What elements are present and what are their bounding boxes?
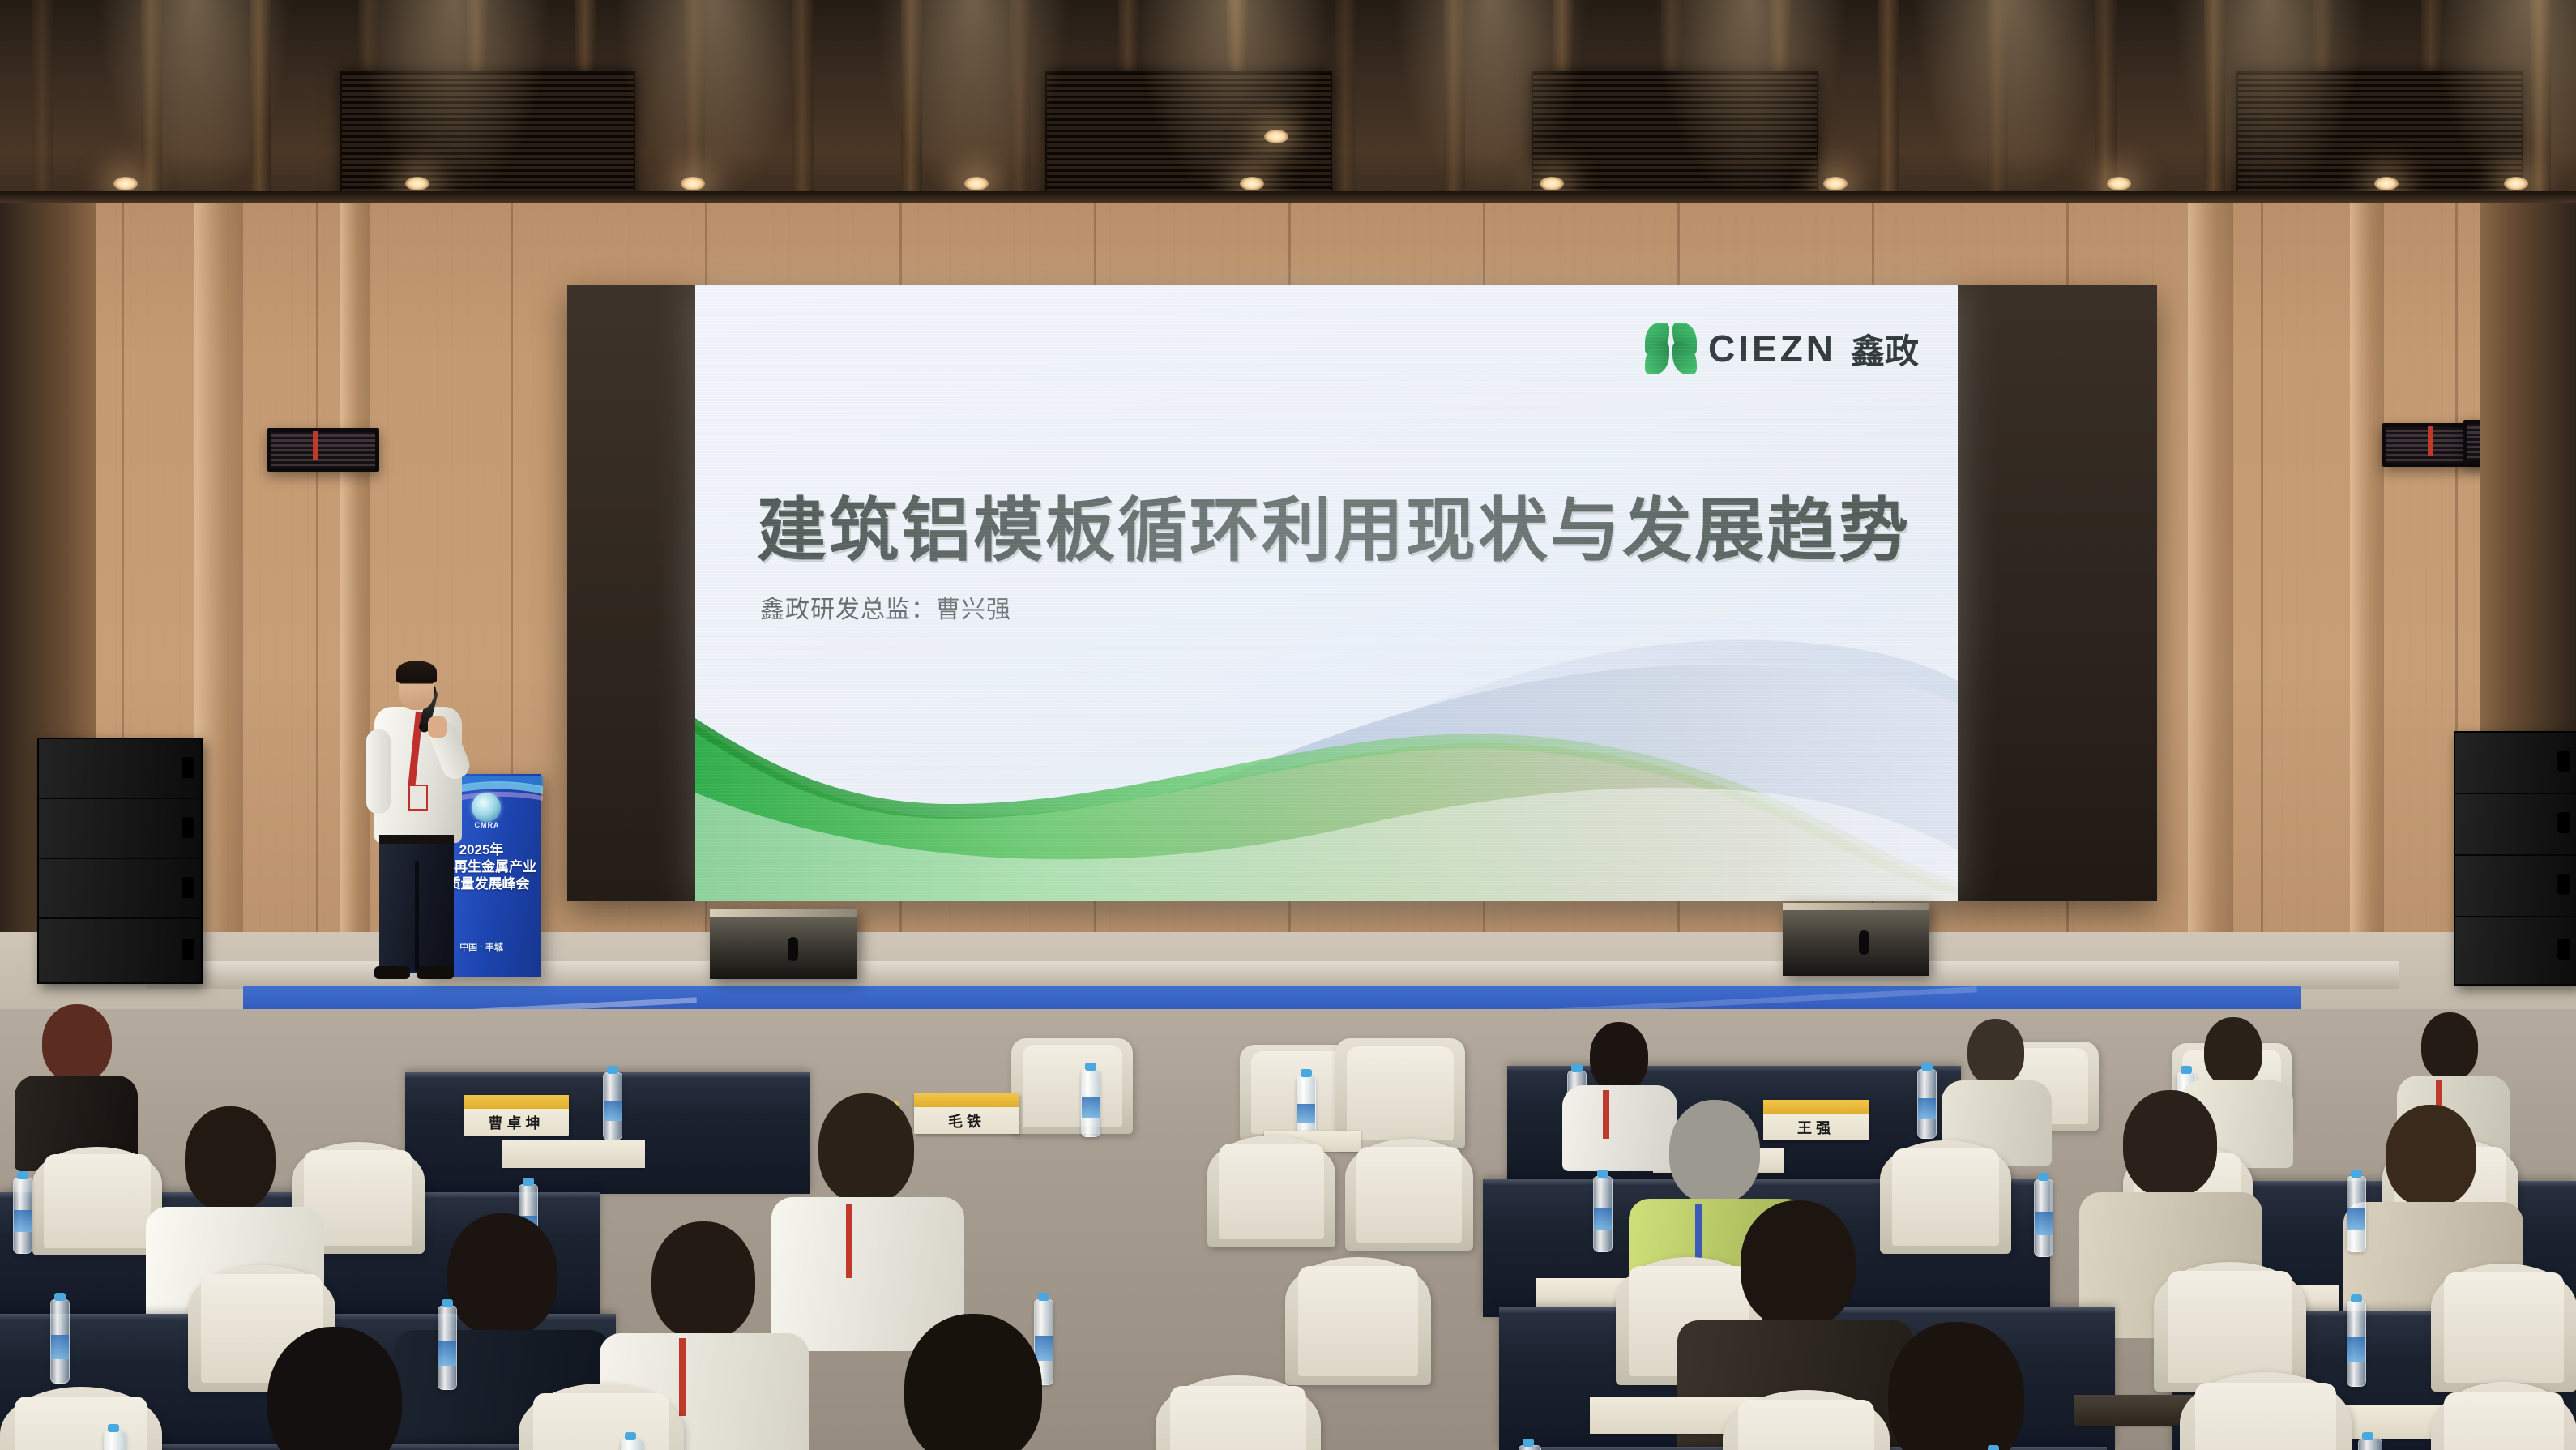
led-display-slide: CIEZN 鑫政 建筑铝模板循环利用现状与发展趋势 鑫政研发总监：曹兴强 [695, 285, 1958, 901]
slide-subtitle: 鑫政研发总监：曹兴强 [760, 589, 1011, 625]
list-item [1285, 1257, 1431, 1385]
speaker-leg-split [415, 861, 419, 971]
water-bottle [50, 1299, 70, 1384]
attendee-head [1967, 1019, 2024, 1085]
attendee-head [2123, 1090, 2217, 1197]
line-array-speaker-left [37, 738, 203, 984]
attendee-head [2421, 1012, 2478, 1080]
stage-monitor-speaker-right [1783, 903, 1929, 976]
ceiling-wash-light [2172, 0, 2366, 203]
name-card-text: 曹卓坤 [464, 1109, 569, 1136]
water-bottle [621, 1439, 643, 1450]
water-bottle [2347, 1176, 2366, 1252]
conference-hall-photo: CIEZN 鑫政 建筑铝模板循环利用现状与发展趋势 鑫政研发总监：曹兴强 ℂ C… [0, 0, 2576, 1450]
logo-chinese-name: 鑫政 [1851, 324, 1919, 374]
speaker-arm-left [366, 729, 391, 814]
ceiling-wash-light [1912, 0, 2107, 203]
vent-indicator [313, 431, 318, 460]
attendee-lanyard [679, 1338, 686, 1416]
water-bottle [1917, 1069, 1937, 1139]
ceiling-downlight [113, 177, 138, 190]
list-item [1880, 1140, 2011, 1254]
screen-bezel-right [1958, 285, 2157, 901]
ceiling-wash-light [2431, 0, 2576, 203]
slide-title: 建筑铝模板循环利用现状与发展趋势 [757, 473, 1911, 575]
attendee-head [2386, 1105, 2476, 1207]
name-card: 曹卓坤 [464, 1095, 569, 1136]
ceiling-beam [1878, 0, 1899, 203]
name-card-text: 王强 [1763, 1114, 1869, 1140]
water-bottle [104, 1431, 126, 1450]
ceiling-wash-light [97, 0, 292, 203]
list-item [0, 1387, 162, 1450]
ceiling-wash-light [1134, 0, 1329, 203]
slide-logo: CIEZN 鑫政 [1645, 323, 1919, 374]
water-bottle [603, 1072, 622, 1140]
list-item [1345, 1139, 1473, 1251]
screen-bezel-left [567, 285, 695, 901]
ceiling-wash-light [1394, 0, 1588, 203]
attendee-head [904, 1314, 1042, 1450]
ceiling-beam [1335, 0, 1356, 203]
list-item [1011, 1038, 1133, 1134]
list-item [1156, 1375, 1321, 1450]
ceiling-downlight [2504, 177, 2528, 190]
speaker-belt [379, 835, 454, 844]
ceiling-downlight [405, 177, 429, 190]
attendee-head [42, 1004, 112, 1082]
water-bottle [1081, 1069, 1100, 1137]
ceiling-downlight [681, 177, 705, 190]
attendee-head [1590, 1022, 1648, 1092]
slide-wave-graphic [695, 634, 1958, 901]
attendee-head [447, 1213, 557, 1337]
water-bottle [2034, 1179, 2053, 1257]
attendee-body [1562, 1085, 1677, 1171]
speaker-hand [428, 716, 447, 738]
audience-area: 曹卓坤 毛铁 王强 [0, 1009, 2576, 1450]
cmra-circle-icon [472, 793, 501, 822]
ceiling-downlight [1823, 177, 1848, 190]
speaker-hair [396, 661, 437, 683]
list-item [2431, 1264, 2576, 1392]
glasses-icon [400, 682, 433, 691]
ceiling [0, 0, 2576, 203]
speaker-shoe-left [374, 966, 410, 979]
list-item [519, 1384, 684, 1450]
list-item [32, 1147, 162, 1255]
ceiling-wash-light [1653, 0, 1848, 203]
document-paper [502, 1140, 645, 1168]
ceiling-downlight [1264, 130, 1288, 143]
ceiling-beam [32, 0, 53, 203]
water-bottle [13, 1178, 32, 1254]
wave-svg [695, 634, 1958, 901]
podium-logo-text: CMRA [466, 821, 508, 829]
ceiling-wash-light [357, 0, 551, 203]
ceiling-downlight [1540, 177, 1564, 190]
list-item [1207, 1136, 1335, 1247]
ceiling-downlight [2374, 177, 2399, 190]
attendee-head [1888, 1322, 2024, 1450]
line-array-speaker-right [2454, 731, 2576, 986]
ceiling-downlight [964, 177, 989, 190]
vent-indicator [2428, 426, 2433, 456]
attendee-head [185, 1106, 276, 1212]
speaker-badge [408, 785, 428, 811]
water-bottle [1593, 1176, 1613, 1252]
name-card: 毛铁 [914, 1093, 1019, 1134]
stage-monitor-speaker-left [710, 909, 857, 979]
logo-wordmark: CIEZN [1708, 327, 1836, 370]
ceiling-wash-light [616, 0, 810, 203]
speaker-shoe-right [417, 966, 454, 979]
water-bottle [1519, 1445, 1541, 1450]
attendee-lanyard [1603, 1090, 1609, 1139]
ceiling-downlight [1240, 177, 1264, 190]
list-item [2180, 1372, 2352, 1450]
attendee-lanyard [846, 1204, 852, 1278]
attendee-head [1669, 1100, 1760, 1204]
attendee-head [1741, 1200, 1856, 1328]
wall-air-vent [267, 428, 379, 472]
water-bottle [438, 1306, 457, 1390]
name-card: 王强 [1763, 1100, 1869, 1140]
ceiling-downlight [2107, 177, 2131, 190]
list-item [2431, 1382, 2576, 1450]
name-card-text: 毛铁 [914, 1107, 1019, 1134]
water-bottle [2358, 1439, 2382, 1450]
pinwheel-leaf-icon [1645, 323, 1697, 374]
attendee-head [818, 1093, 914, 1204]
ceiling-wash-light [875, 0, 1070, 203]
list-item [2154, 1262, 2306, 1392]
attendee-head [651, 1221, 755, 1340]
attendee-head [2204, 1017, 2262, 1087]
water-bottle [2347, 1301, 2366, 1387]
